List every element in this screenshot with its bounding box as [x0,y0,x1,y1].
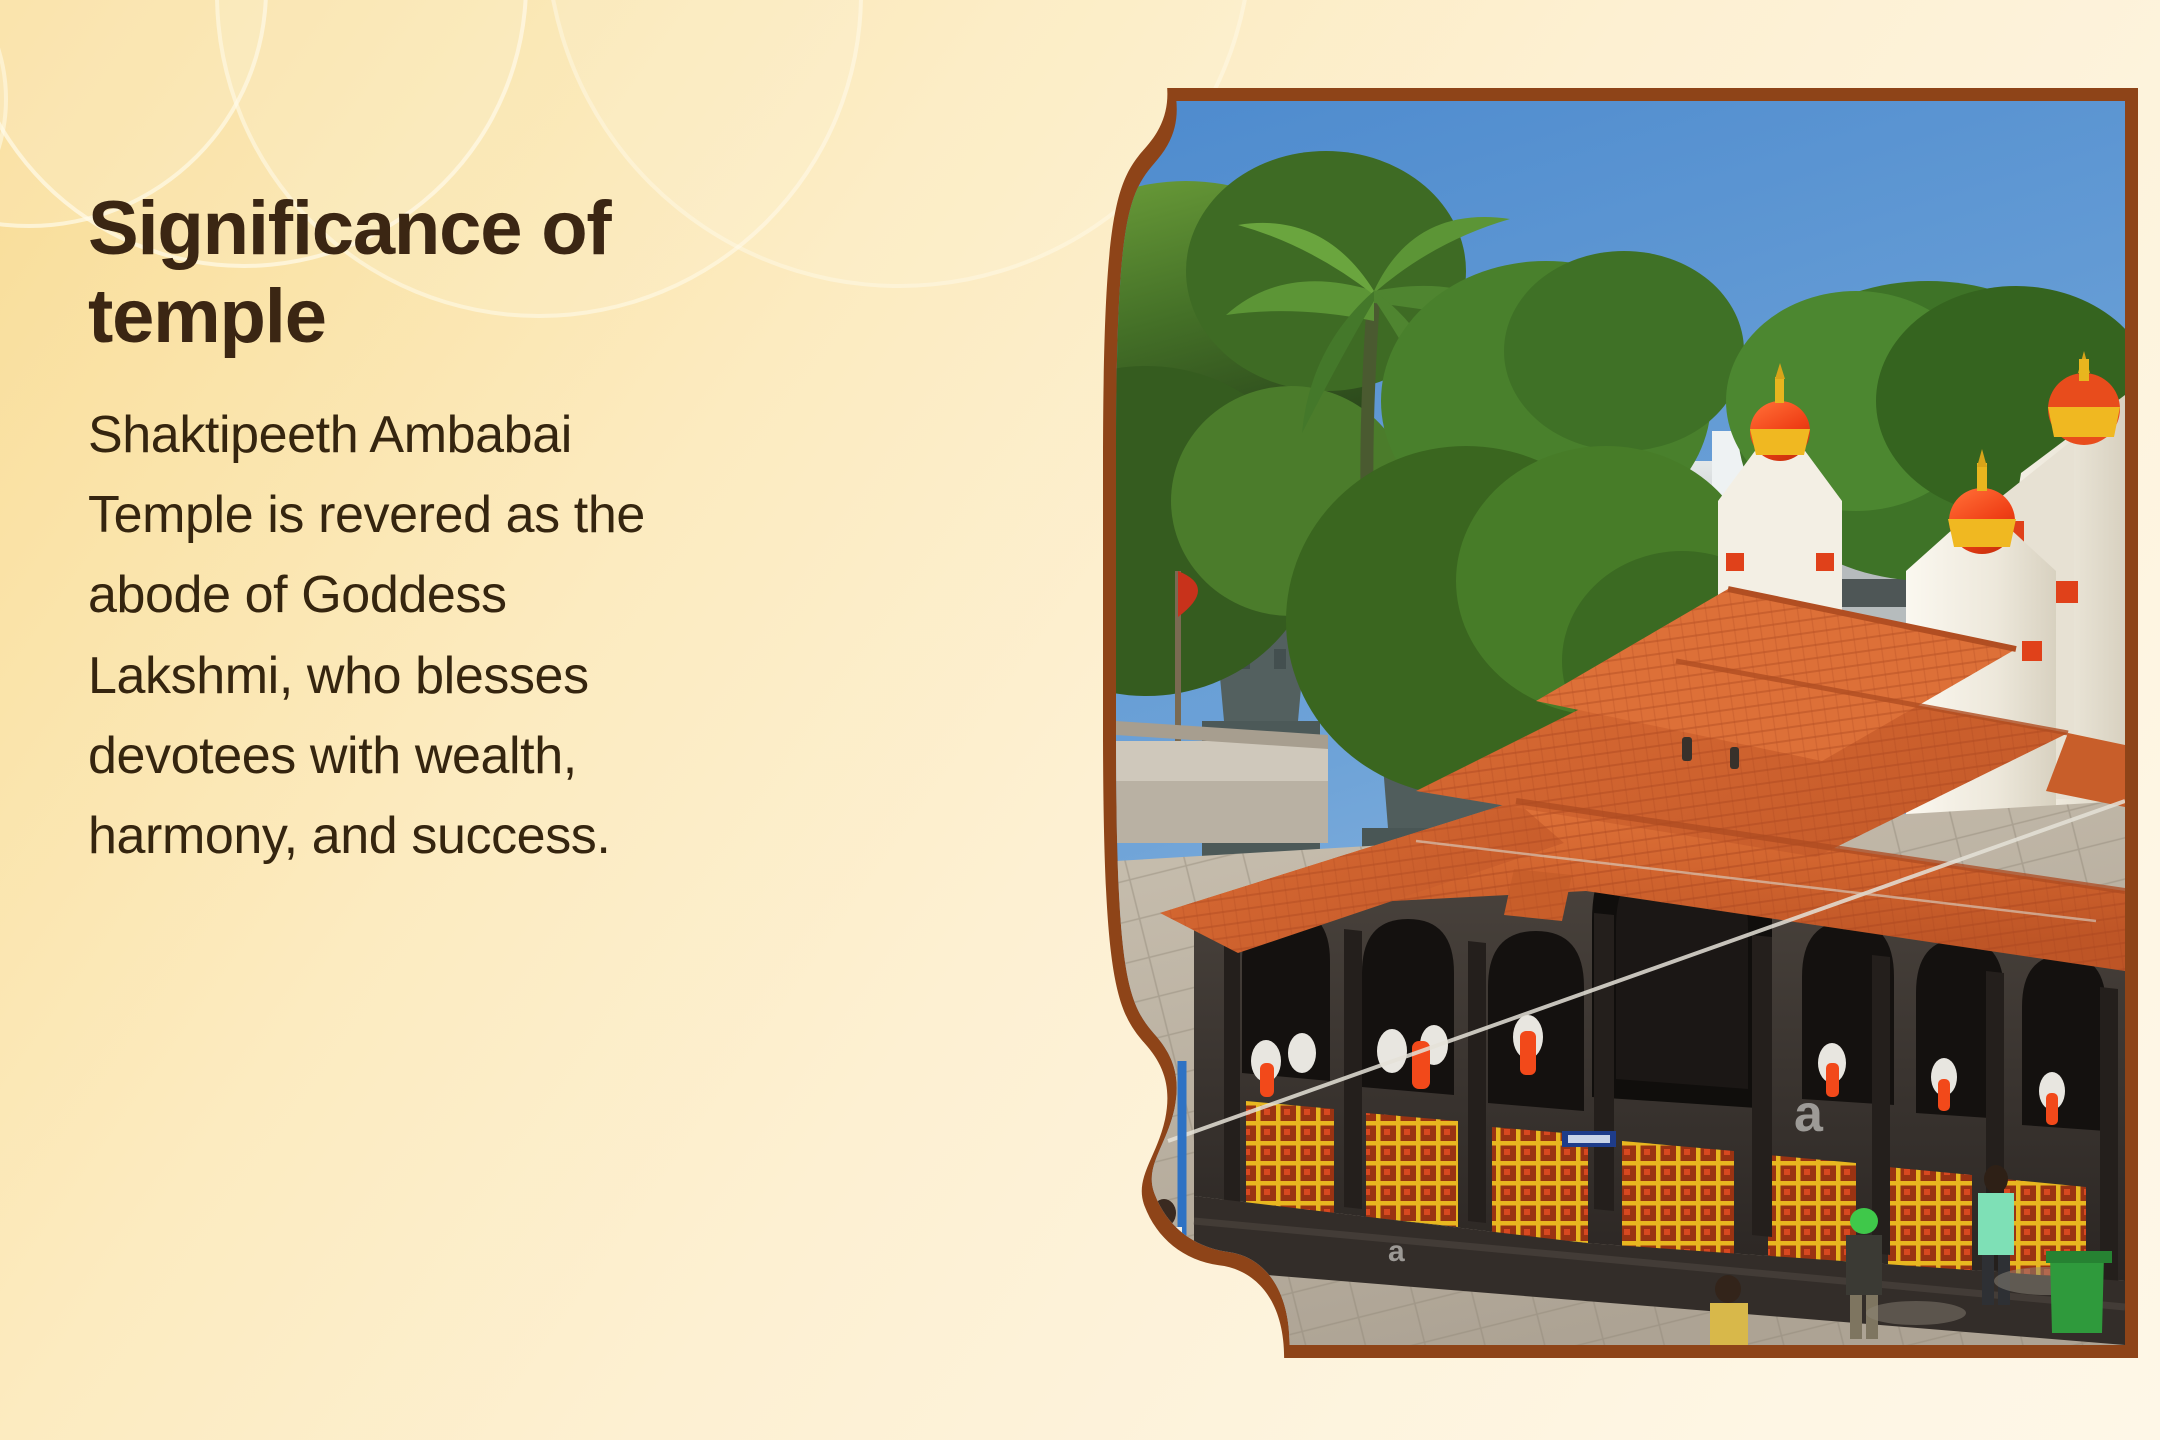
svg-text:a: a [1388,1235,1405,1268]
temple-photo-frame: a a [1103,88,2138,1358]
text-column: Significance of temple Shaktipeeth Ambab… [88,185,708,876]
svg-text:a: a [1794,1085,1824,1143]
page-title: Significance of temple [88,185,708,361]
temple-photo: a a [1116,101,2125,1345]
green-dustbin [2046,1251,2112,1333]
slide-canvas: Significance of temple Shaktipeeth Ambab… [0,0,2160,1440]
temple-photo-illustration: a a [1116,101,2125,1345]
sun-ring-icon [0,0,8,268]
body-paragraph: Shaktipeeth Ambabai Temple is revered as… [88,395,668,875]
